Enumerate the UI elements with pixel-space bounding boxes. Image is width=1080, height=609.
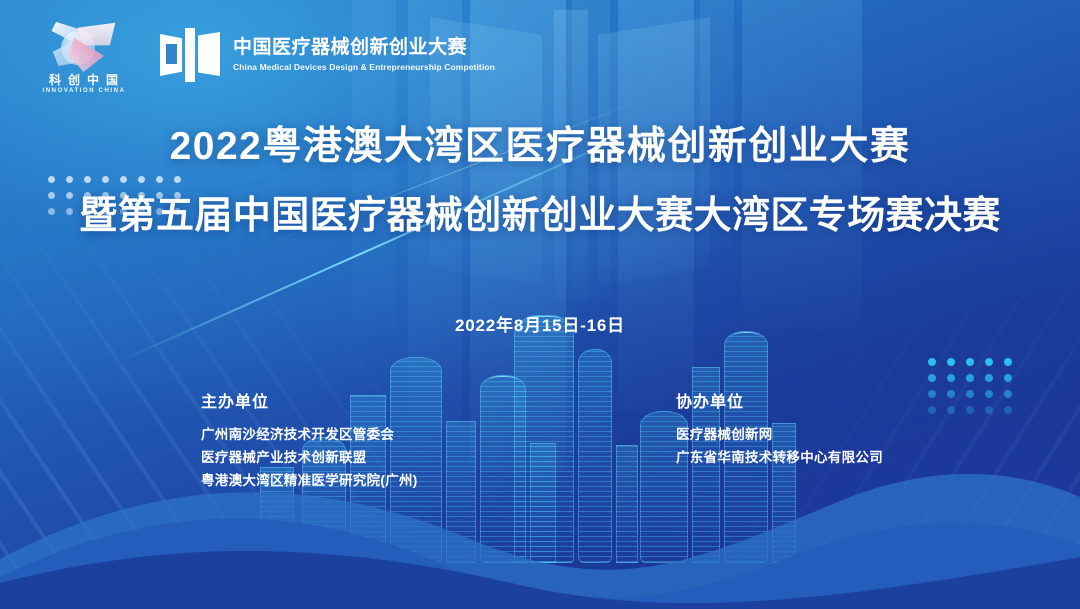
decorative-dot: [1004, 358, 1012, 366]
decorative-dot: [928, 358, 936, 366]
cohost-heading: 协办单位: [676, 388, 883, 412]
logo-cn-char: 国: [106, 74, 119, 86]
logo-innovation-china: 科 创 中 国 INNOVATION CHINA: [34, 16, 134, 94]
logo-innovation-china-cn: 科 创 中 国: [49, 74, 119, 86]
decorative-dot: [1004, 406, 1012, 414]
decorative-dot: [928, 374, 936, 382]
host-item: 医疗器械产业技术创新联盟: [201, 446, 418, 469]
logo-innovation-china-en: INNOVATION CHINA: [42, 88, 125, 94]
host-heading: 主办单位: [201, 388, 418, 412]
decorative-dot: [947, 358, 955, 366]
innovation-china-bird-logo-icon: [47, 22, 121, 72]
logo-competition-cn: 中国医疗器械创新创业大赛: [233, 38, 495, 59]
decorative-dot: [985, 374, 993, 382]
wave-graphic-front: [0, 449, 1080, 609]
cohost-organizers: 协办单位 医疗器械创新网 广东省华南技术转移中心有限公司: [676, 388, 883, 469]
decorative-dot: [947, 374, 955, 382]
decorative-dot: [947, 406, 955, 414]
decorative-dot: [947, 390, 955, 398]
host-item: 粤港澳大湾区精准医学研究院(广州): [201, 469, 418, 492]
logo-cn-char: 创: [68, 74, 81, 86]
decorative-dot: [928, 390, 936, 398]
logo-competition: 中国医疗器械创新创业大赛 China Medical Devices Desig…: [160, 28, 495, 82]
event-poster: 科 创 中 国 INNOVATION CHINA 中国医疗器械创新创业大赛 Ch…: [0, 0, 1080, 609]
wave-graphic-back: [0, 409, 1080, 609]
decorative-dot: [985, 358, 993, 366]
logo-competition-en: China Medical Devices Design & Entrepren…: [233, 62, 495, 72]
host-item: 广州南沙经济技术开发区管委会: [201, 423, 418, 446]
event-date: 2022年8月15日-16日: [0, 311, 1080, 336]
dot-grid-right: [928, 358, 1028, 422]
decorative-dot: [985, 406, 993, 414]
main-title-line1: 2022粤港澳大湾区医疗器械创新创业大赛: [0, 124, 1080, 170]
host-organizers: 主办单位 广州南沙经济技术开发区管委会 医疗器械产业技术创新联盟 粤港澳大湾区精…: [201, 388, 418, 493]
china-medical-devices-book-logo-icon: [160, 28, 220, 82]
decorative-dot: [966, 390, 974, 398]
decorative-dot: [966, 406, 974, 414]
cohost-item: 广东省华南技术转移中心有限公司: [676, 446, 883, 469]
poster-header: 科 创 中 国 INNOVATION CHINA 中国医疗器械创新创业大赛 Ch…: [0, 0, 1080, 110]
poster-titles: 2022粤港澳大湾区医疗器械创新创业大赛 暨第五届中国医疗器械创新创业大赛大湾区…: [0, 124, 1080, 239]
decorative-dot: [928, 406, 936, 414]
decorative-dot: [1004, 390, 1012, 398]
decorative-dot: [985, 390, 993, 398]
decorative-dot: [1004, 374, 1012, 382]
wave-graphic-deep: [0, 513, 1080, 609]
cohost-item: 医疗器械创新网: [676, 423, 883, 446]
decorative-dot: [966, 358, 974, 366]
logo-cn-char: 科: [49, 74, 62, 86]
decorative-dot: [966, 374, 974, 382]
main-title-line2: 暨第五届中国医疗器械创新创业大赛大湾区专场赛决赛: [0, 194, 1080, 239]
logo-cn-char: 中: [87, 74, 100, 86]
